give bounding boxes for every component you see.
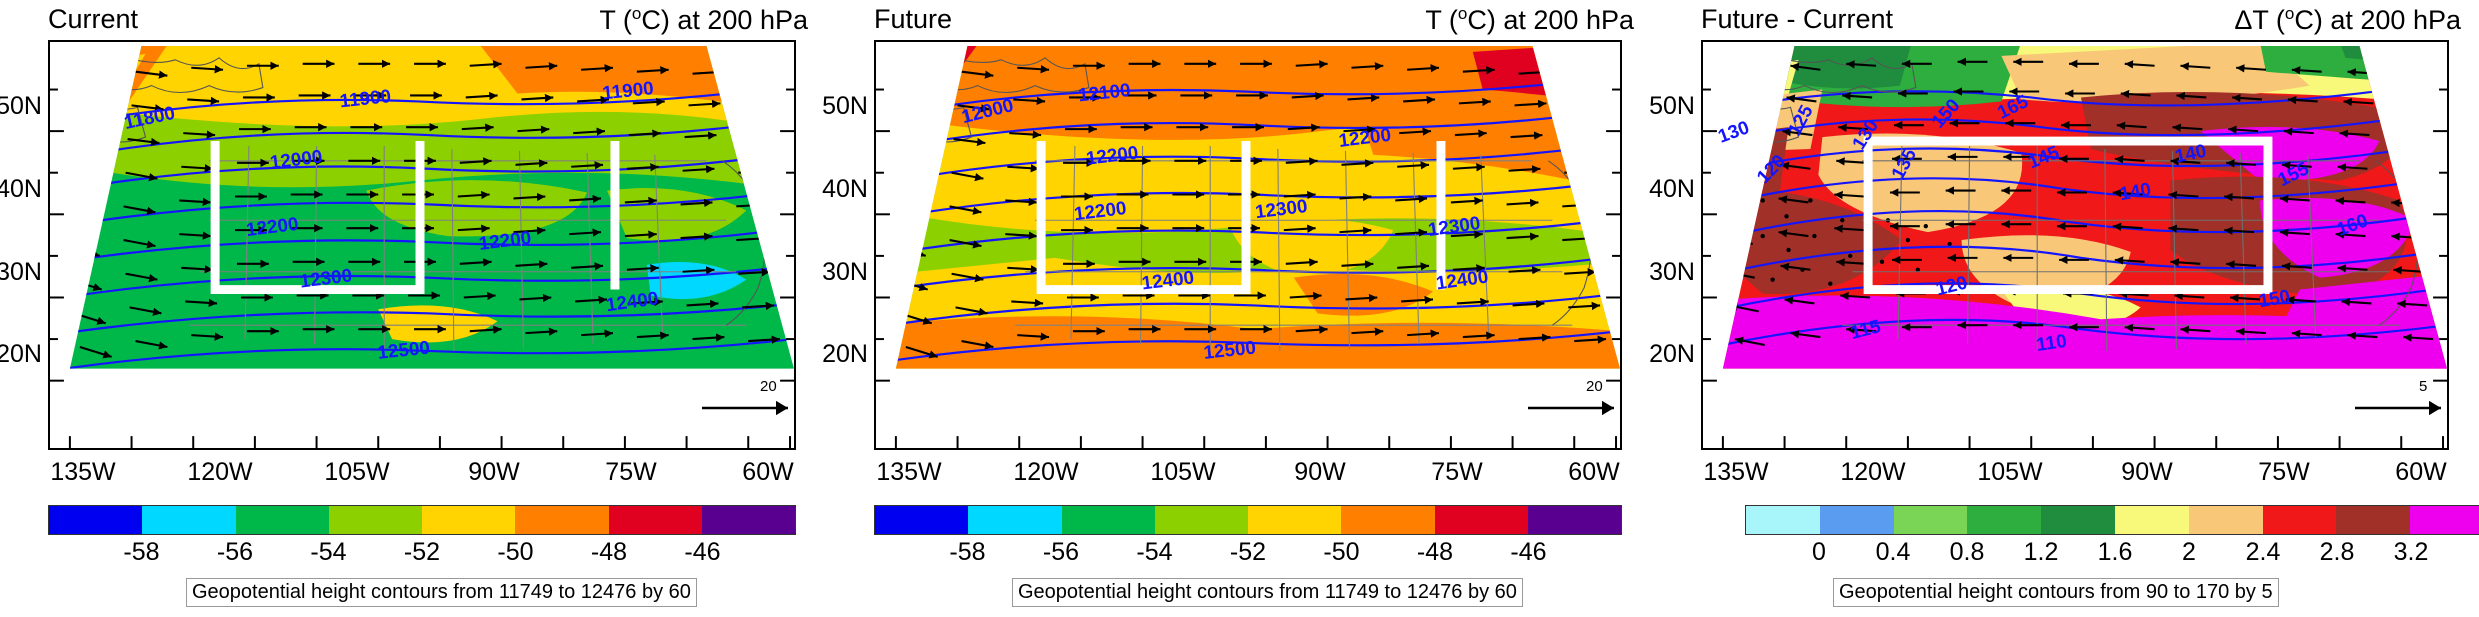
colorbar-tick: -58 xyxy=(123,538,159,567)
xtick-label-75W: 75W xyxy=(2224,458,2344,487)
ytick-label-20N: 20N xyxy=(796,340,868,369)
colorbar-swatch xyxy=(142,506,235,534)
colorbar-tick: 2 xyxy=(2182,538,2196,567)
colorbar-swatch xyxy=(1967,506,2041,534)
colorbar-swatch xyxy=(1746,506,1820,534)
colorbar-tick: -48 xyxy=(591,538,627,567)
ytick-label-30N: 30N xyxy=(0,258,42,287)
colorbar-swatch xyxy=(609,506,702,534)
ytick-label-50N: 50N xyxy=(0,92,42,121)
title-post: C) at 200 hPa xyxy=(1467,5,1634,35)
ytick-label-20N: 20N xyxy=(1623,340,1695,369)
colorbar-tick: 2.8 xyxy=(2320,538,2355,567)
ytick-label-40N: 40N xyxy=(796,175,868,204)
xtick-label-105W: 105W xyxy=(1123,458,1243,487)
map-plot-current[interactable]: 11800 11900 11900 12000 12200 12200 1230… xyxy=(48,40,796,450)
xtick-label-135W: 135W xyxy=(23,458,143,487)
colorbar-swatch xyxy=(1248,506,1341,534)
colorbar-tick: 1.2 xyxy=(2024,538,2059,567)
colorbar-swatch xyxy=(1820,506,1894,534)
panel-caption: Geopotential height contours from 11749 … xyxy=(1012,578,1523,607)
colorbar-tick: 0.8 xyxy=(1950,538,1985,567)
colorbar-tick: -46 xyxy=(1510,538,1546,567)
ytick-label-50N: 50N xyxy=(796,92,868,121)
xtick-label-135W: 135W xyxy=(849,458,969,487)
colorbar-swatch xyxy=(329,506,422,534)
colorbar-tick-labels: -58 -56 -54 -52 -50 -48 -46 xyxy=(48,538,796,566)
colorbar-swatch xyxy=(2336,506,2410,534)
panel-future: Future T (oC) at 200 hPa xyxy=(826,0,1652,617)
colorbar-swatch xyxy=(1435,506,1528,534)
colorbar-tick: -58 xyxy=(949,538,985,567)
colorbar-swatch xyxy=(2115,506,2189,534)
reference-vector-label: 20 xyxy=(760,378,777,395)
colorbar-swatch xyxy=(1528,506,1621,534)
colorbar-tick: 3.2 xyxy=(2394,538,2429,567)
title-post: C) at 200 hPa xyxy=(2294,5,2461,35)
colorbar-swatch xyxy=(422,506,515,534)
colorbar-tick: 1.6 xyxy=(2098,538,2133,567)
colorbar-current[interactable] xyxy=(48,505,796,535)
colorbar-tick: -54 xyxy=(310,538,346,567)
map-plot-future[interactable]: 12000 12100 12200 12200 12200 12300 1230… xyxy=(874,40,1622,450)
ytick-label-50N: 50N xyxy=(1623,92,1695,121)
reference-vector-arrow xyxy=(700,400,796,416)
ytick-label-30N: 30N xyxy=(796,258,868,287)
xtick-label-105W: 105W xyxy=(1950,458,2070,487)
degree-symbol: o xyxy=(1458,4,1467,23)
panel-title-right: T (oC) at 200 hPa xyxy=(599,4,808,36)
panel-current: Current T (oC) at 200 hPa xyxy=(0,0,826,617)
colorbar-swatch xyxy=(236,506,329,534)
title-post: C) at 200 hPa xyxy=(641,5,808,35)
panel-title-right: T (oC) at 200 hPa xyxy=(1425,4,1634,36)
xtick-label-60W: 60W xyxy=(1534,458,1654,487)
ytick-label-30N: 30N xyxy=(1623,258,1695,287)
map-svg: 130 120 125 130 135 150 165 145 140 140 … xyxy=(1703,42,2447,448)
figure-root: Current T (oC) at 200 hPa xyxy=(0,0,2479,617)
xtick-label-90W: 90W xyxy=(434,458,554,487)
xtick-label-120W: 120W xyxy=(1813,458,1933,487)
panel-future-minus-current: Future - Current ΔT (oC) at 200 hPa xyxy=(1653,0,2479,617)
colorbar-tick: -50 xyxy=(497,538,533,567)
colorbar-swatch xyxy=(702,506,795,534)
panel-title-right: ΔT (oC) at 200 hPa xyxy=(2234,4,2461,36)
reference-vector-label: 20 xyxy=(1586,378,1603,395)
xtick-label-75W: 75W xyxy=(571,458,691,487)
degree-symbol: o xyxy=(2285,4,2294,23)
colorbar-tick: -46 xyxy=(684,538,720,567)
panel-caption: Geopotential height contours from 90 to … xyxy=(1833,578,2279,607)
title-pre: T ( xyxy=(599,5,632,35)
colorbar-tick: -50 xyxy=(1323,538,1359,567)
panel-title-left: Future xyxy=(874,4,952,35)
colorbar-tick: 0 xyxy=(1812,538,1826,567)
colorbar-swatch xyxy=(1341,506,1434,534)
xtick-label-90W: 90W xyxy=(2087,458,2207,487)
reference-vector-arrow xyxy=(2353,400,2449,416)
ytick-label-40N: 40N xyxy=(1623,175,1695,204)
colorbar-tick-labels: 0 0.4 0.8 1.2 1.6 2 2.4 2.8 3.2 xyxy=(1745,538,2479,566)
colorbar-swatch xyxy=(2410,506,2479,534)
map-plot-difference[interactable]: 130 120 125 130 135 150 165 145 140 140 … xyxy=(1701,40,2449,450)
xtick-label-90W: 90W xyxy=(1260,458,1380,487)
colorbar-difference[interactable] xyxy=(1745,505,2479,535)
colorbar-swatch xyxy=(1062,506,1155,534)
panel-caption: Geopotential height contours from 11749 … xyxy=(186,578,697,607)
title-pre: ΔT ( xyxy=(2234,5,2285,35)
reference-vector-label: 5 xyxy=(2419,378,2427,395)
xtick-label-75W: 75W xyxy=(1397,458,1517,487)
colorbar-tick: -48 xyxy=(1417,538,1453,567)
colorbar-swatch xyxy=(875,506,968,534)
svg-text:130: 130 xyxy=(1715,116,1752,146)
ytick-label-20N: 20N xyxy=(0,340,42,369)
colorbar-tick: -56 xyxy=(217,538,253,567)
colorbar-swatch xyxy=(49,506,142,534)
panel-title-left: Current xyxy=(48,4,138,35)
colorbar-swatch xyxy=(2189,506,2263,534)
xtick-label-120W: 120W xyxy=(986,458,1106,487)
colorbar-tick: 0.4 xyxy=(1876,538,1911,567)
colorbar-swatch xyxy=(968,506,1061,534)
panel-title-left: Future - Current xyxy=(1701,4,1893,35)
colorbar-tick: -54 xyxy=(1136,538,1172,567)
map-svg: 11800 11900 11900 12000 12200 12200 1230… xyxy=(50,42,794,448)
colorbar-swatch xyxy=(1155,506,1248,534)
colorbar-swatch xyxy=(1894,506,1968,534)
colorbar-tick: 2.4 xyxy=(2246,538,2281,567)
colorbar-tick: -52 xyxy=(1230,538,1266,567)
xtick-label-120W: 120W xyxy=(160,458,280,487)
colorbar-tick-labels: -58 -56 -54 -52 -50 -48 -46 xyxy=(874,538,1622,566)
colorbar-swatch xyxy=(2041,506,2115,534)
xtick-label-135W: 135W xyxy=(1676,458,1796,487)
colorbar-tick: -52 xyxy=(404,538,440,567)
map-svg: 12000 12100 12200 12200 12200 12300 1230… xyxy=(876,42,1620,448)
colorbar-future[interactable] xyxy=(874,505,1622,535)
colorbar-tick: -56 xyxy=(1043,538,1079,567)
xtick-label-60W: 60W xyxy=(2361,458,2479,487)
colorbar-swatch xyxy=(515,506,608,534)
degree-symbol: o xyxy=(632,4,641,23)
svg-text:110: 110 xyxy=(2035,330,2068,355)
title-pre: T ( xyxy=(1425,5,1458,35)
colorbar-swatch xyxy=(2263,506,2337,534)
xtick-label-60W: 60W xyxy=(708,458,828,487)
reference-vector-arrow xyxy=(1526,400,1622,416)
ytick-label-40N: 40N xyxy=(0,175,42,204)
xtick-label-105W: 105W xyxy=(297,458,417,487)
